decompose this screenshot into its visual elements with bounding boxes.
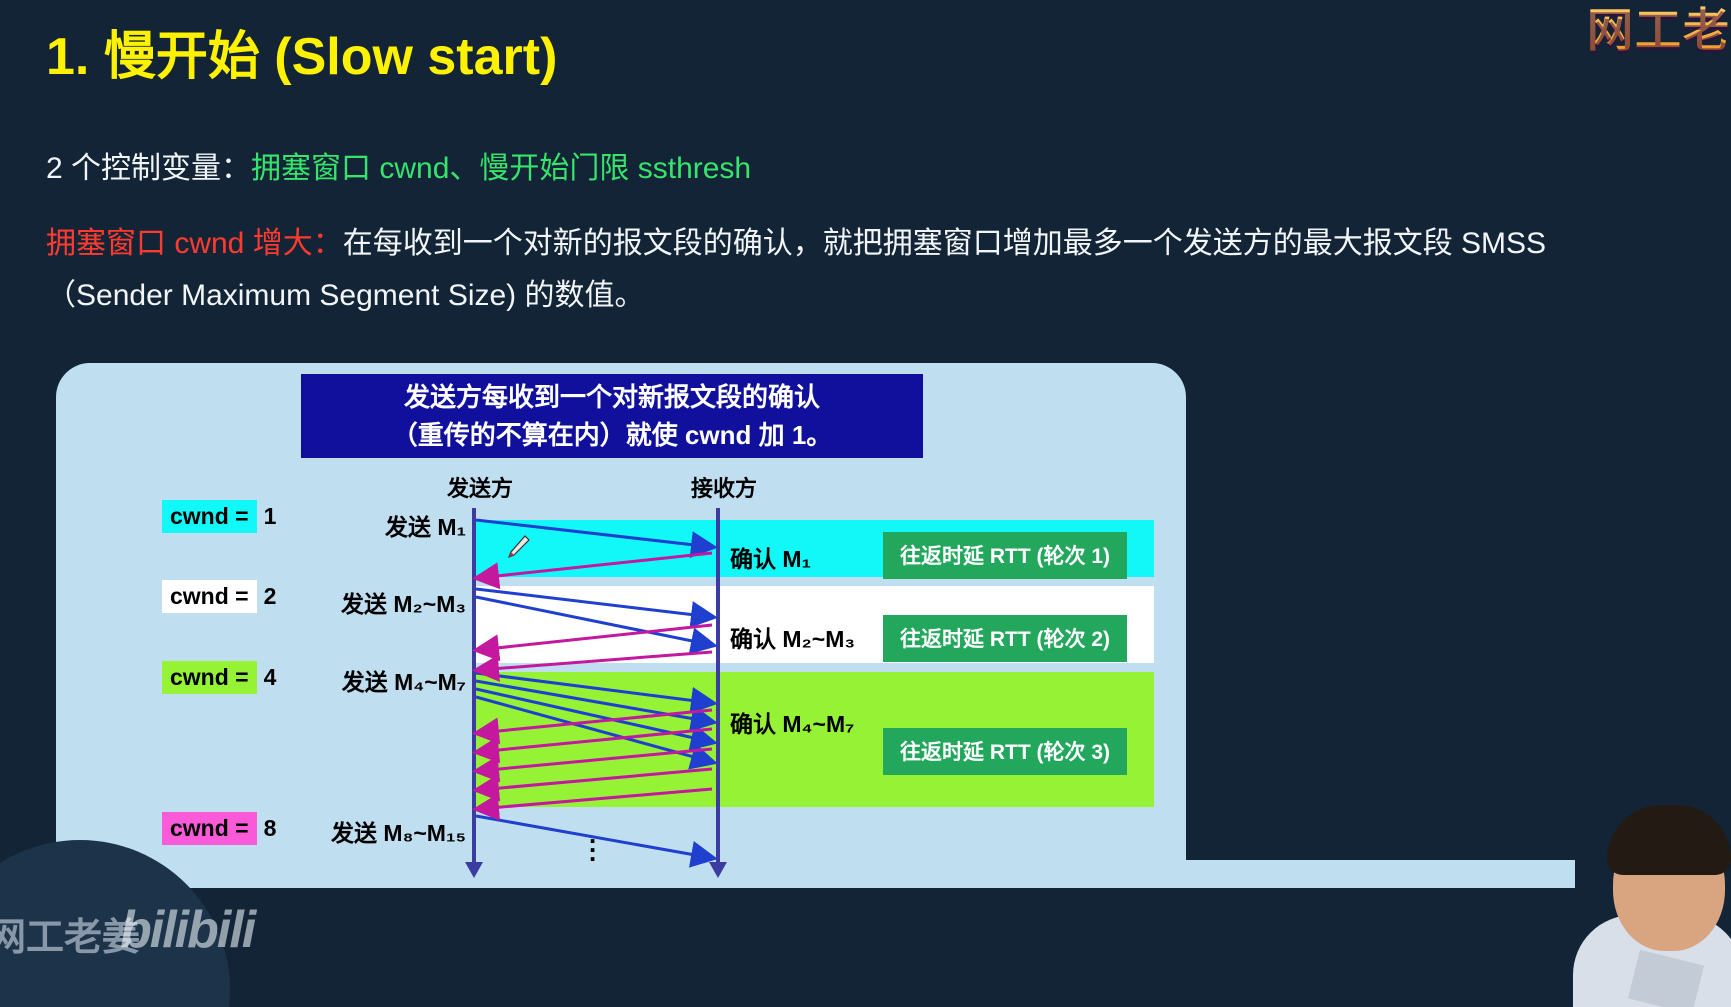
control-variables-prefix: 2 个控制变量： [46,152,251,185]
cwnd-label-round-2: cwnd =2 [162,583,276,610]
send-label-round-4: 发送 M₈~M₁₅ [290,814,466,848]
receiver-timeline [716,508,720,866]
page-title: 1. 慢开始 (Slow start) [46,14,557,89]
rtt-badge-round-3: 往返时延 RTT (轮次 3) [883,728,1127,775]
send-label-round-2: 发送 M₂~M₃ [300,585,466,619]
brand-logo: 网工老 [1587,0,1731,60]
cwnd-value-4: 8 [257,815,277,841]
cwnd-value-1: 1 [257,503,277,529]
cwnd-growth-paragraph: 拥塞窗口 cwnd 增大：在每收到一个对新的报文段的确认，就把拥塞窗口增加最多一… [46,218,1566,322]
dot-3: . [589,848,596,857]
cwnd-label-text-3: cwnd = [162,661,257,694]
ack-label-round-2: 确认 M₂~M₃ [730,620,855,654]
banner-line-2: （重传的不算在内）就使 cwnd 加 1。 [392,416,833,454]
cwnd-growth-lead: 拥塞窗口 cwnd 增大： [46,227,343,260]
banner-line-1: 发送方每收到一个对新报文段的确认 [404,378,820,416]
cwnd-label-round-3: cwnd =4 [162,664,276,691]
control-variables-line: 2 个控制变量：拥塞窗口 cwnd、慢开始门限 ssthresh [46,143,751,187]
continuation-dots: . . . [589,830,596,857]
bilibili-logo: bilibili [120,900,254,960]
sender-label: 发送方 [447,471,513,503]
send-label-round-3: 发送 M₄~M₇ [300,663,466,697]
presenter-hair [1607,805,1731,875]
receiver-timeline-arrow-icon [709,862,727,878]
sender-timeline-arrow-icon [465,862,483,878]
receiver-label: 接收方 [691,471,757,503]
cwnd-label-text-4: cwnd = [162,812,257,845]
control-variables-highlight: 拥塞窗口 cwnd、慢开始门限 ssthresh [251,152,751,185]
cwnd-label-text-2: cwnd = [162,580,257,613]
rtt-badge-round-2: 往返时延 RTT (轮次 2) [883,615,1127,662]
cwnd-value-3: 4 [257,664,277,690]
diagram-panel-strip [56,860,1575,888]
cwnd-label-round-4: cwnd =8 [162,815,276,842]
cwnd-value-2: 2 [257,583,277,609]
ack-label-round-3: 确认 M₄~M₇ [730,705,854,739]
ack-label-round-1: 确认 M₁ [730,540,811,574]
rtt-badge-round-1: 往返时延 RTT (轮次 1) [883,532,1127,579]
cwnd-label-round-1: cwnd =1 [162,503,276,530]
cwnd-label-text-1: cwnd = [162,500,257,533]
diagram-banner: 发送方每收到一个对新报文段的确认 （重传的不算在内）就使 cwnd 加 1。 [301,374,923,458]
pencil-cursor-icon [505,534,531,560]
presenter-webcam [1559,757,1731,1007]
channel-watermark: 网工老姜 [0,906,140,961]
send-label-round-1: 发送 M₁ [330,508,466,542]
sender-timeline [472,508,476,866]
